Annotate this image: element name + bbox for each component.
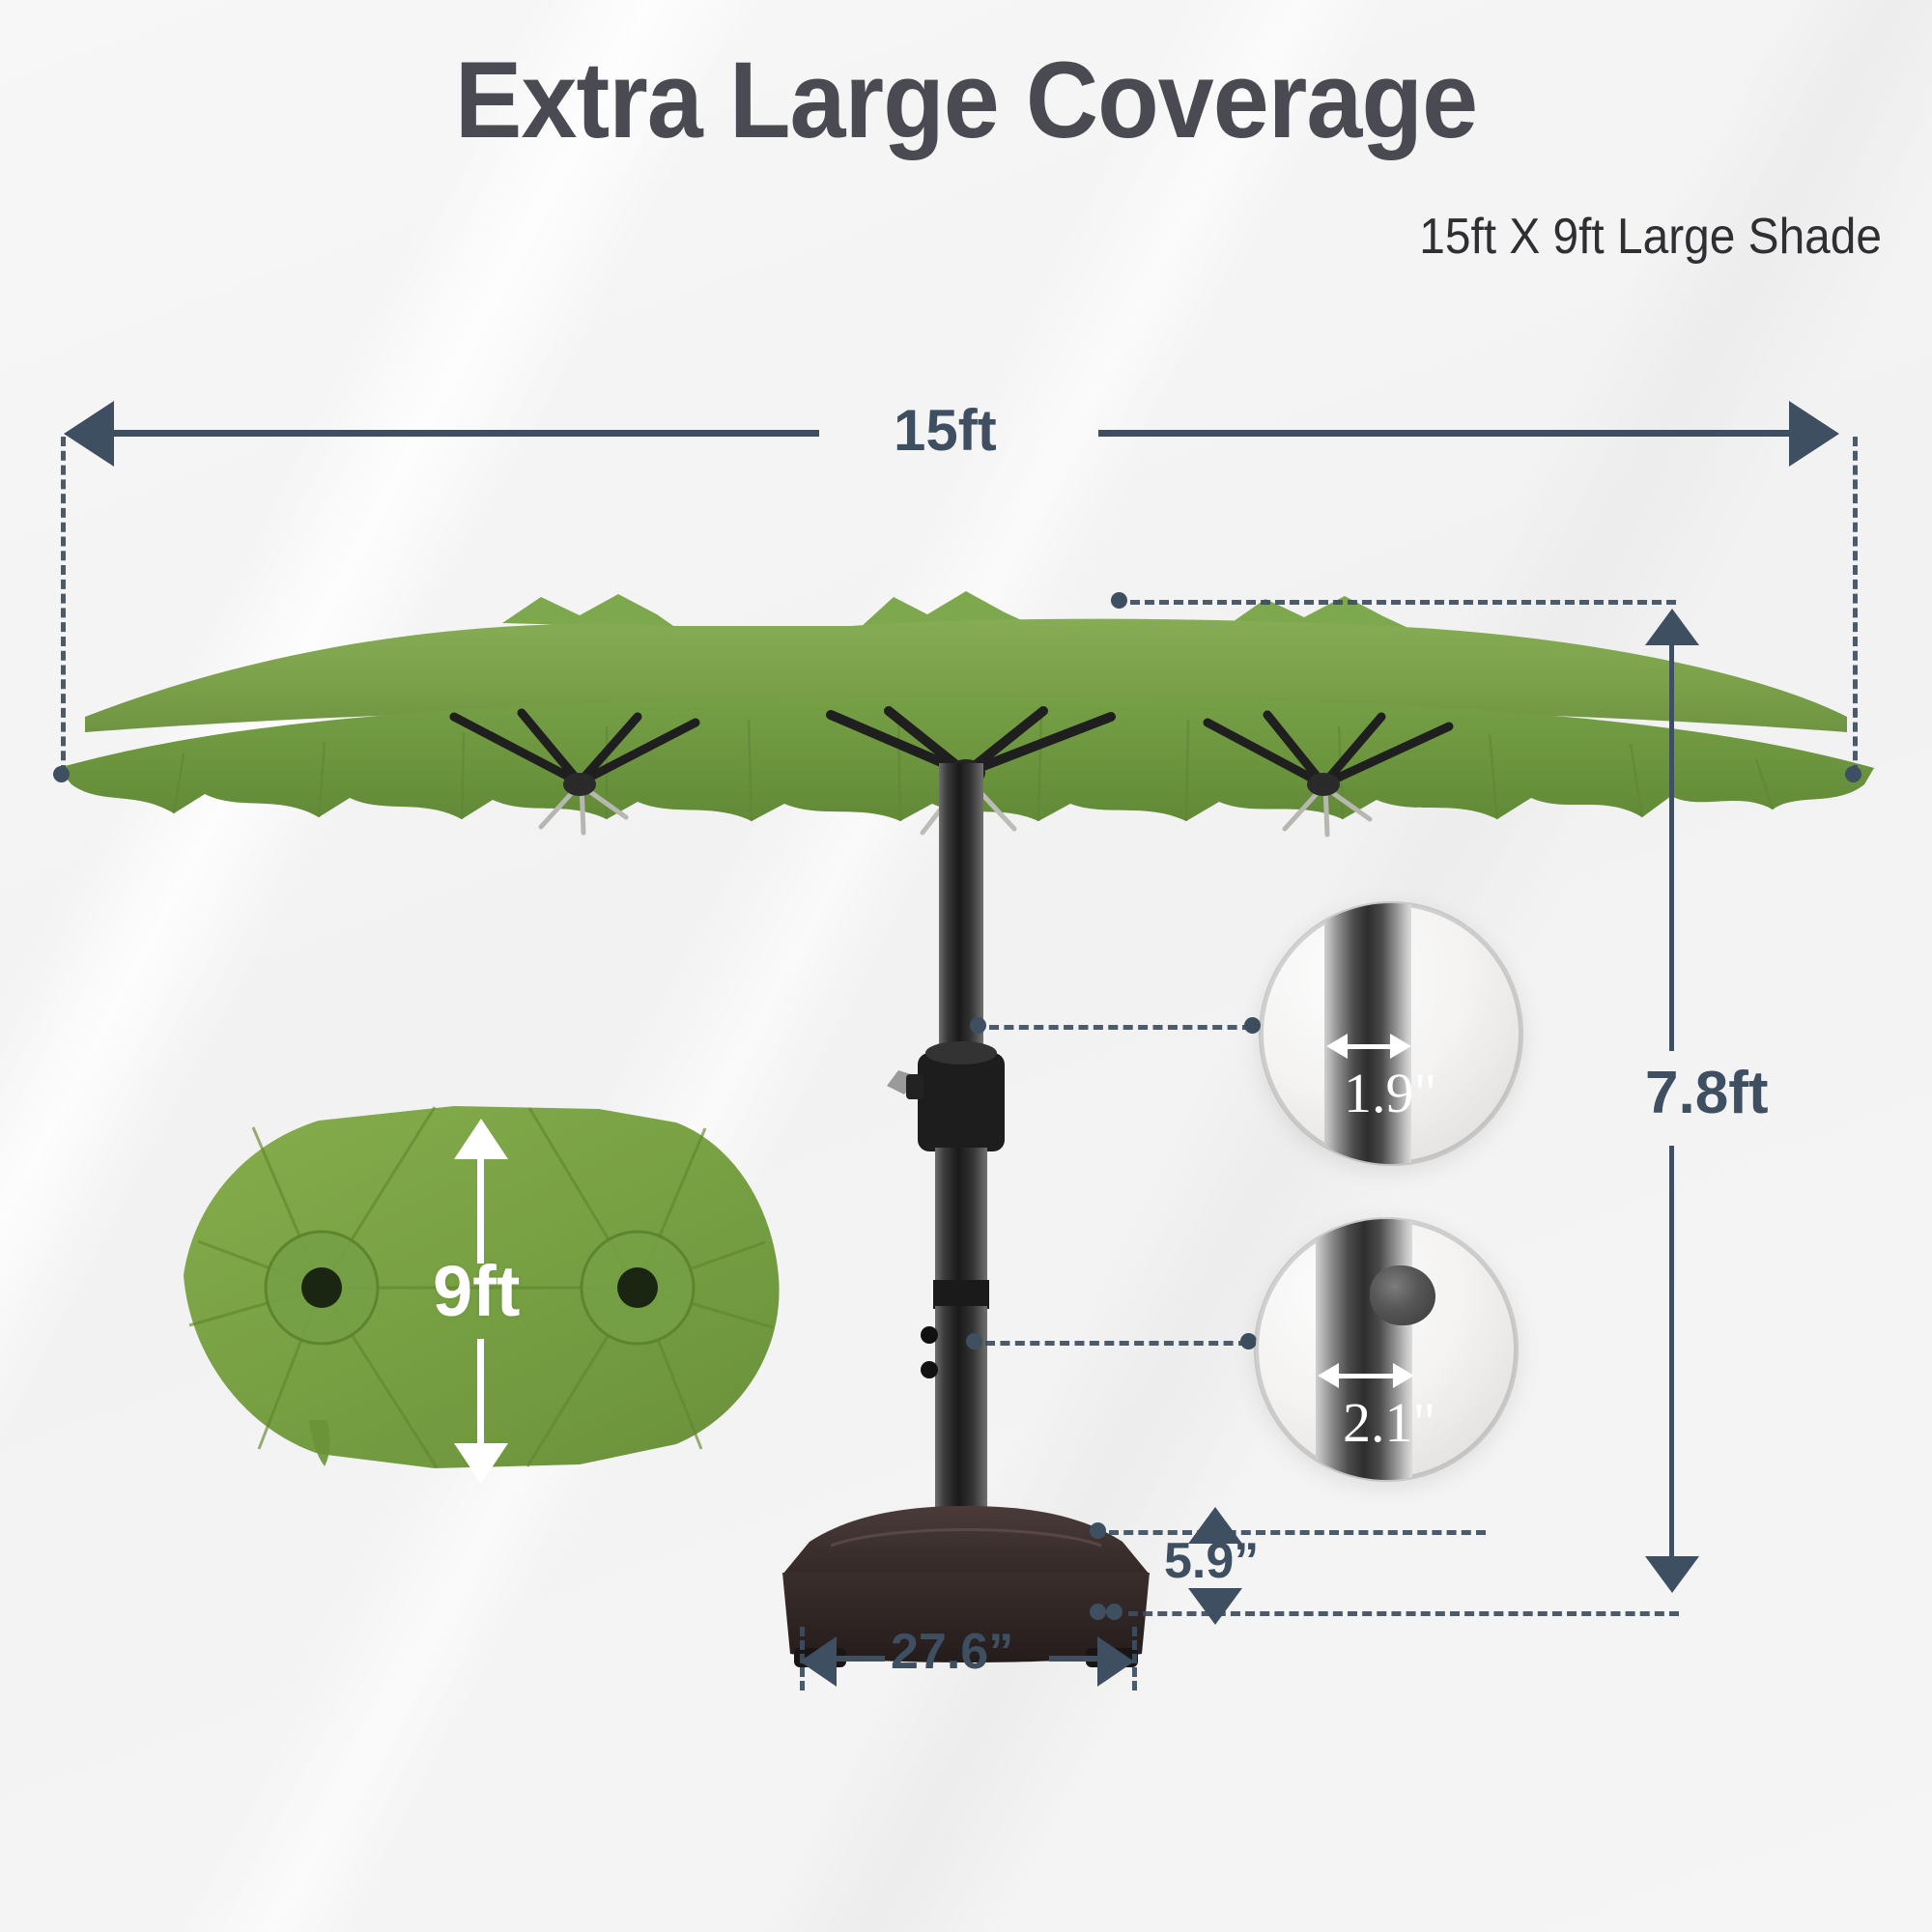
lower-measure-arrow-left xyxy=(1318,1363,1339,1388)
depth-arrow-down xyxy=(454,1443,508,1484)
upper-callout-dot-left xyxy=(970,1017,986,1034)
base-width-arrow-right xyxy=(1097,1636,1134,1687)
upper-measure-arrow-right xyxy=(1390,1034,1411,1059)
height-top-extension xyxy=(1130,600,1676,605)
base-width-line-left xyxy=(835,1656,885,1662)
upper-pole-label: 1.9" xyxy=(1344,1065,1436,1122)
width-line-left xyxy=(112,430,819,437)
base-height-arrow-down xyxy=(1188,1588,1242,1625)
upper-measure-arrow-left xyxy=(1326,1034,1348,1059)
upper-pole-magnifier: 1.9" xyxy=(1261,903,1521,1164)
width-line-right xyxy=(1098,430,1792,437)
lower-callout-leader xyxy=(985,1341,1248,1346)
width-right-dot xyxy=(1845,766,1861,782)
crank-handle xyxy=(887,1070,923,1099)
upper-callout-dot-right xyxy=(1244,1017,1261,1034)
base-width-line-right xyxy=(1049,1656,1099,1662)
umbrella-pole xyxy=(887,763,1005,1509)
base-height-bottom-dot xyxy=(1090,1604,1106,1620)
base-width-label: 27.6” xyxy=(891,1623,1013,1681)
width-left-dot xyxy=(53,766,70,782)
height-bottom-dot xyxy=(1106,1604,1122,1620)
width-right-extension xyxy=(1853,437,1858,775)
height-line-lower xyxy=(1669,1146,1674,1556)
width-arrow-right xyxy=(1789,401,1839,467)
width-left-extension xyxy=(61,437,66,775)
height-top-dot xyxy=(1111,592,1127,609)
lower-measure-arrow-right xyxy=(1393,1363,1414,1388)
infographic-canvas: Extra Large Coverage 15ft X 9ft Large Sh… xyxy=(0,0,1932,1932)
magnified-pin-knob xyxy=(1370,1265,1435,1325)
base-width-arrow-left xyxy=(800,1636,837,1687)
lower-callout-dot-left xyxy=(966,1333,982,1350)
depth-arrow-up xyxy=(454,1119,508,1159)
lower-measure-line xyxy=(1333,1374,1399,1378)
lower-pole-magnifier: 2.1" xyxy=(1256,1219,1517,1480)
upper-callout-leader xyxy=(989,1025,1252,1030)
height-label: 7.8ft xyxy=(1645,1059,1768,1127)
height-arrow-up xyxy=(1645,609,1699,645)
height-line-upper xyxy=(1669,645,1674,1051)
width-arrow-left xyxy=(64,401,114,467)
base-height-label: 5.9” xyxy=(1164,1532,1259,1590)
depth-line-lower xyxy=(477,1339,484,1445)
upper-measure-line xyxy=(1342,1044,1396,1049)
depth-line-upper xyxy=(477,1157,484,1264)
width-label: 15ft xyxy=(894,397,997,464)
base-height-top-dot xyxy=(1090,1522,1106,1539)
lower-callout-dot-right xyxy=(1240,1333,1257,1350)
lower-pole-label: 2.1" xyxy=(1343,1395,1435,1451)
depth-label: 9ft xyxy=(433,1250,520,1332)
height-arrow-down xyxy=(1645,1556,1699,1593)
